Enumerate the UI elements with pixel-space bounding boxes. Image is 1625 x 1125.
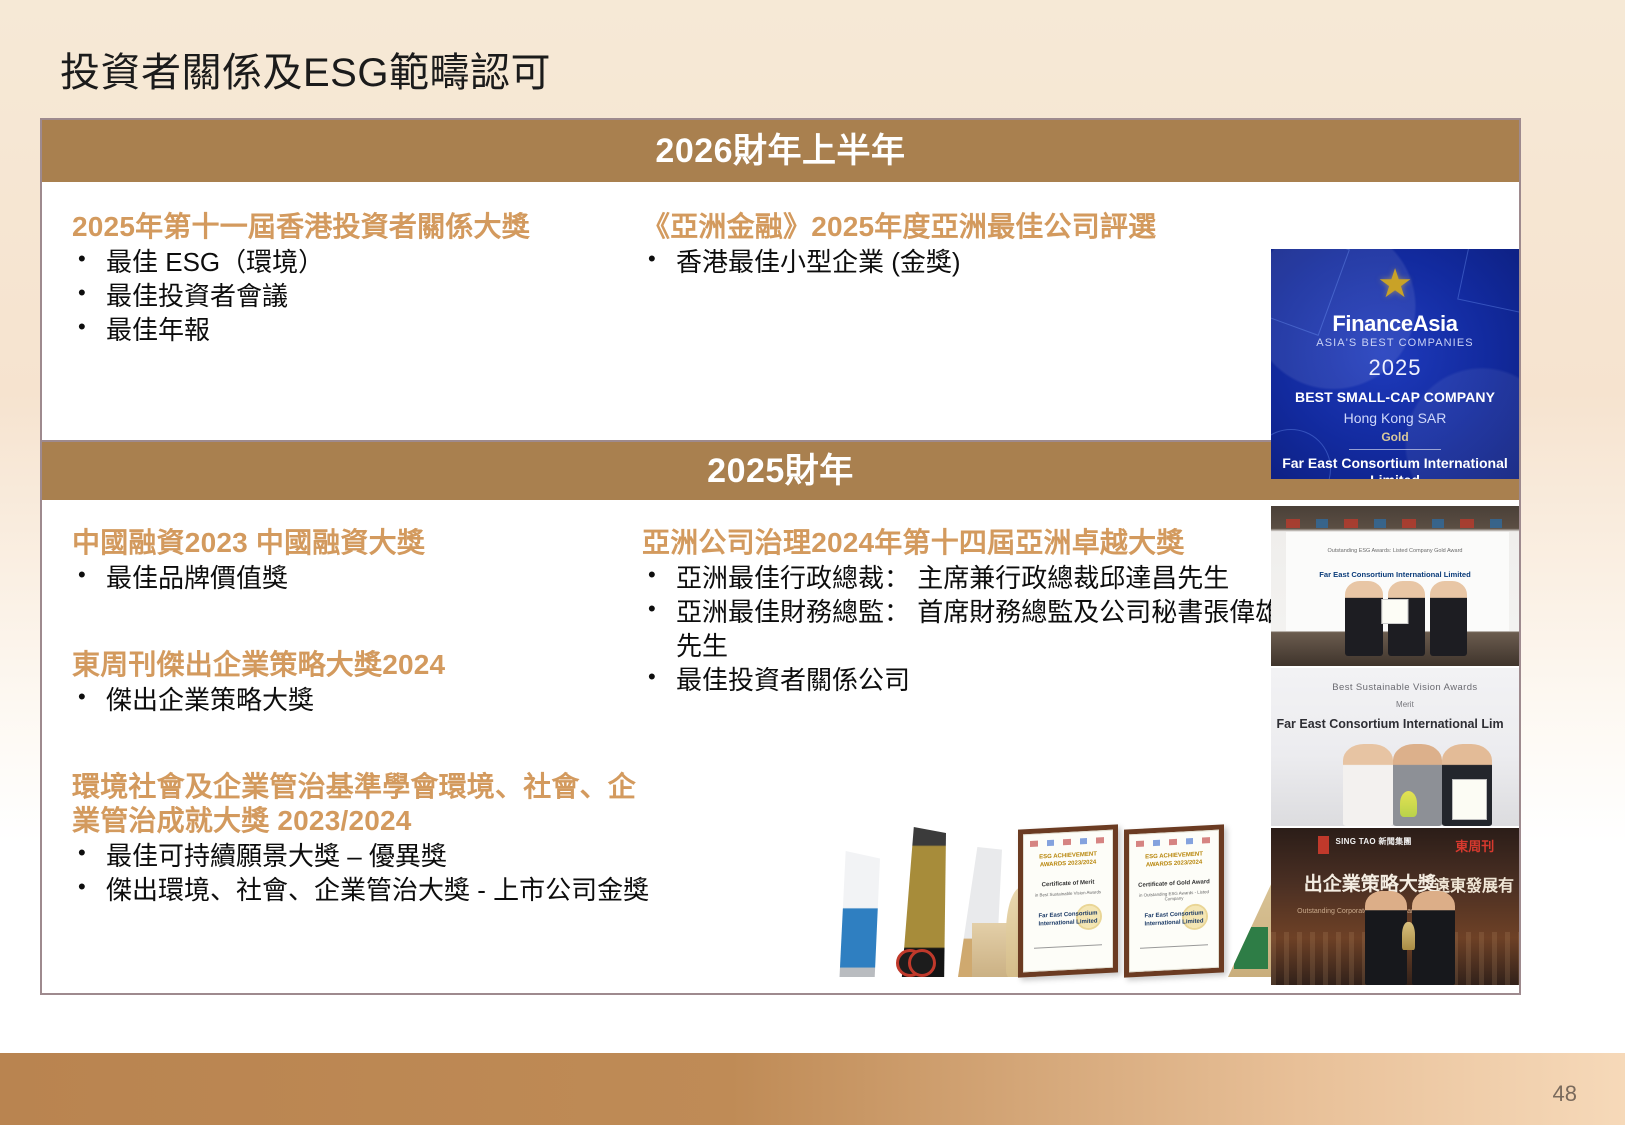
- award-bullet-list: 最佳品牌價值獎: [72, 562, 652, 596]
- held-trophy: [1400, 791, 1417, 816]
- award-group: 環境社會及企業管治基準學會環境、社會、企業管治成就大獎 2023/2024 最佳…: [72, 770, 652, 908]
- award-bullet-list: 亞洲最佳行政總裁： 主席兼行政總裁邱達昌先生 亞洲最佳財務總監： 首席財務總監及…: [642, 562, 1282, 697]
- certificate-signature-line: [1034, 944, 1102, 949]
- sponsor-logos-strip: [1136, 837, 1212, 847]
- award-bullet: 最佳品牌價值獎: [72, 562, 652, 596]
- person-figure: [1345, 581, 1382, 656]
- screen-award-title: Best Sustainable Vision Awards: [1301, 682, 1509, 693]
- award-heading: 《亞洲金融》2025年度亞洲最佳公司評選: [642, 210, 1262, 244]
- singtao-strategy-award-photo: SING TAO 新聞集團 東周刊 出企業策略大獎 Outstanding Co…: [1271, 828, 1519, 985]
- person-figure: [1343, 744, 1393, 826]
- certificate-subtitle: in Outstanding ESG Awards - Listed Compa…: [1134, 889, 1214, 903]
- section-band-label: 2025財年: [707, 454, 854, 488]
- section-band-fy2026h1: 2026財年上半年: [42, 120, 1519, 182]
- hexagon-decoration: [1457, 249, 1519, 317]
- award-bullet: 亞洲最佳行政總裁： 主席兼行政總裁邱達昌先生: [642, 562, 1282, 596]
- divider: [1349, 449, 1441, 450]
- held-trophy: [1402, 922, 1414, 950]
- screen-award-tier: Merit: [1301, 700, 1509, 709]
- finance-asia-year: 2025: [1271, 355, 1519, 381]
- person-figure: [1412, 891, 1454, 985]
- sustainable-vision-award-photo: Best Sustainable Vision Awards Merit Far…: [1271, 668, 1519, 826]
- award-bullet: 最佳投資者關係公司: [642, 664, 1282, 698]
- page-number: 48: [1553, 1081, 1577, 1107]
- page-title: 投資者關係及ESG範疇認可: [60, 40, 551, 98]
- award-bullet: 最佳年報: [72, 314, 642, 348]
- certificate-subtitle: in Best Sustainable Vision Awards: [1028, 889, 1108, 898]
- award-heading: 東周刊傑出企業策略大獎2024: [72, 648, 652, 682]
- award-bullet-list: 香港最佳小型企業 (金獎): [642, 246, 1262, 280]
- award-group: 中國融資2023 中國融資大獎 最佳品牌價值獎: [72, 526, 652, 596]
- finance-asia-company: Far East Consortium International Limite…: [1271, 455, 1519, 479]
- person-figure: [1430, 581, 1467, 656]
- held-certificate: [1381, 599, 1408, 625]
- screen-award-line: Outstanding ESG Awards: Listed Company G…: [1316, 548, 1475, 555]
- award-group: 2025年第十一屆香港投資者關係大獎 最佳 ESG（環境） 最佳投資者會議 最佳…: [72, 210, 642, 348]
- awards-frame: 2026財年上半年 2025年第十一屆香港投資者關係大獎 最佳 ESG（環境） …: [40, 118, 1521, 995]
- trophy-cluster-image: ESG ACHIEVEMENT AWARDS 2023/2024 Certifi…: [822, 755, 1242, 985]
- fy2025-left-column: 中國融資2023 中國融資大獎 最佳品牌價值獎 東周刊傑出企業策略大獎2024 …: [72, 526, 652, 908]
- finance-asia-tier: Gold: [1271, 430, 1519, 444]
- finance-asia-award-badge-image: ★ FinanceAsia ASIA'S BEST COMPANIES 2025…: [1271, 249, 1519, 479]
- certificate-kind: Certificate of Merit: [1028, 879, 1108, 889]
- footer-band: [0, 1053, 1625, 1125]
- finance-asia-region: Hong Kong SAR: [1271, 410, 1519, 426]
- award-bullet: 香港最佳小型企業 (金獎): [642, 246, 1262, 280]
- screen-company-line: Far East Consortium International Limite…: [1286, 570, 1504, 579]
- singtao-mark-icon: [1318, 836, 1329, 854]
- award-bullet: 傑出環境、社會、企業管治大獎 - 上市公司金獎: [72, 874, 652, 908]
- framed-certificate-gold: ESG ACHIEVEMENT AWARDS 2023/2024 Certifi…: [1124, 824, 1224, 977]
- framed-certificate-merit: ESG ACHIEVEMENT AWARDS 2023/2024 Certifi…: [1018, 824, 1118, 977]
- award-bullet-list: 傑出企業策略大獎: [72, 684, 652, 718]
- trophy-disc: [908, 949, 936, 977]
- held-certificate: [1452, 779, 1487, 820]
- certificate-inner: ESG ACHIEVEMENT AWARDS 2023/2024 Certifi…: [1129, 830, 1219, 973]
- slide-canvas: 投資者關係及ESG範疇認可 2026財年上半年 2025年第十一屆香港投資者關係…: [0, 0, 1625, 1125]
- esg-award-ceremony-photo: Outstanding ESG Awards: Listed Company G…: [1271, 506, 1519, 666]
- award-group: 《亞洲金融》2025年度亞洲最佳公司評選 香港最佳小型企業 (金獎): [642, 210, 1262, 280]
- spacer: [72, 596, 652, 648]
- certificate-awards-title: ESG ACHIEVEMENT AWARDS 2023/2024: [1028, 851, 1108, 871]
- award-bullet-list: 最佳可持續願景大獎 – 優異獎 傑出環境、社會、企業管治大獎 - 上市公司金獎: [72, 840, 652, 908]
- east-week-logo: 東周刊: [1455, 836, 1494, 855]
- award-group: 亞洲公司治理2024年第十四屆亞洲卓越大獎 亞洲最佳行政總裁： 主席兼行政總裁邱…: [642, 526, 1282, 697]
- award-heading: 亞洲公司治理2024年第十四屆亞洲卓越大獎: [642, 526, 1282, 560]
- certificate-signature-line: [1140, 944, 1208, 949]
- sponsor-logos-strip: [1030, 837, 1106, 847]
- certificate-kind: Certificate of Gold Award: [1134, 879, 1214, 889]
- section-body-fy2026h1: 2025年第十一屆香港投資者關係大獎 最佳 ESG（環境） 最佳投資者會議 最佳…: [42, 182, 1519, 440]
- screen-company-line: Far East Consortium International Lim: [1271, 717, 1519, 731]
- spacer: [72, 718, 652, 770]
- award-heading: 中國融資2023 中國融資大獎: [72, 526, 652, 560]
- person-figure: [1365, 891, 1407, 985]
- section-band-label: 2026財年上半年: [655, 134, 905, 168]
- finance-asia-category: BEST SMALL-CAP COMPANY: [1271, 389, 1519, 405]
- fy2025-right-column: 亞洲公司治理2024年第十四屆亞洲卓越大獎 亞洲最佳行政總裁： 主席兼行政總裁邱…: [642, 526, 1282, 697]
- certificate-awards-title: ESG ACHIEVEMENT AWARDS 2023/2024: [1134, 851, 1214, 871]
- certificate-inner: ESG ACHIEVEMENT AWARDS 2023/2024 Certifi…: [1023, 830, 1113, 973]
- section-body-fy2025: 中國融資2023 中國融資大獎 最佳品牌價值獎 東周刊傑出企業策略大獎2024 …: [42, 500, 1519, 991]
- finance-asia-logo: FinanceAsia: [1271, 311, 1519, 337]
- sponsor-logos-strip: [1286, 519, 1504, 528]
- star-icon: ★: [1377, 264, 1413, 304]
- plaque-face: [1234, 927, 1268, 969]
- award-bullet: 亞洲最佳財務總監： 首席財務總監及公司秘書張偉雄先生: [642, 596, 1282, 664]
- award-bullet-list: 最佳 ESG（環境） 最佳投資者會議 最佳年報: [72, 246, 642, 347]
- fy2026h1-right-column: 《亞洲金融》2025年度亞洲最佳公司評選 香港最佳小型企業 (金獎): [642, 210, 1262, 280]
- award-heading: 環境社會及企業管治基準學會環境、社會、企業管治成就大獎 2023/2024: [72, 770, 652, 838]
- award-bullet: 傑出企業策略大獎: [72, 684, 652, 718]
- fy2026h1-left-column: 2025年第十一屆香港投資者關係大獎 最佳 ESG（環境） 最佳投資者會議 最佳…: [72, 210, 642, 348]
- award-bullet: 最佳可持續願景大獎 – 優異獎: [72, 840, 652, 874]
- award-bullet: 最佳 ESG（環境）: [72, 246, 642, 280]
- singtao-publisher-logo: SING TAO 新聞集團: [1335, 836, 1411, 847]
- award-group: 東周刊傑出企業策略大獎2024 傑出企業策略大獎: [72, 648, 652, 718]
- finance-asia-subtitle: ASIA'S BEST COMPANIES: [1271, 337, 1519, 349]
- trophy-blue: [836, 851, 880, 977]
- award-bullet: 最佳投資者會議: [72, 280, 642, 314]
- award-heading: 2025年第十一屆香港投資者關係大獎: [72, 210, 642, 244]
